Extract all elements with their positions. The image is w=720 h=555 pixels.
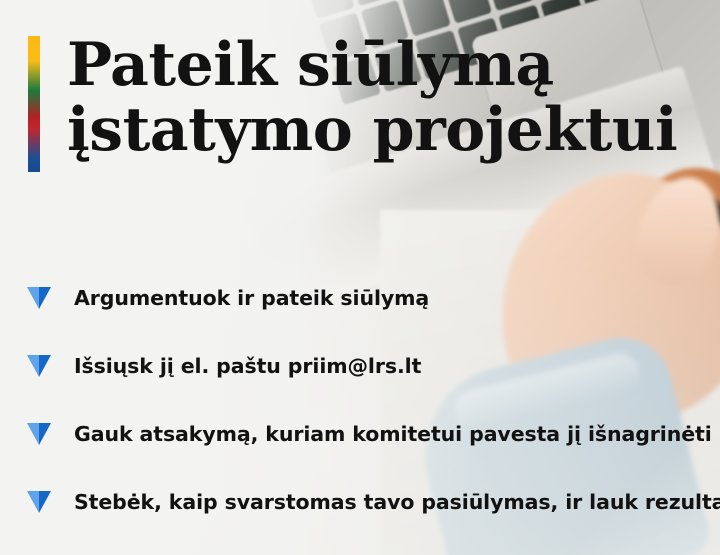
triangle-down-icon [26, 287, 52, 309]
list-item: Išsiųsk jį el. paštu priim@lrs.lt [26, 332, 698, 400]
list-item-label: Išsiųsk jį el. paštu priim@lrs.lt [74, 354, 421, 378]
poster-content: Pateik siūlymą įstatymo projektui Argume… [0, 0, 720, 555]
poster: Pateik siūlymą įstatymo projektui Argume… [0, 0, 720, 555]
triangle-down-icon [26, 423, 52, 445]
lithuania-flag-gradient-bar [28, 36, 40, 172]
list-item-label: Argumentuok ir pateik siūlymą [74, 286, 429, 310]
triangle-down-icon [26, 355, 52, 377]
page-title: Pateik siūlymą įstatymo projektui [67, 33, 677, 172]
list-item-label: Gauk atsakymą, kuriam komitetui pavesta … [74, 422, 712, 446]
list-item: Argumentuok ir pateik siūlymą [26, 264, 698, 332]
list-item-label: Stebėk, kaip svarstomas tavo pasiūlymas,… [74, 490, 720, 514]
list-item: Stebėk, kaip svarstomas tavo pasiūlymas,… [26, 468, 698, 536]
title-block: Pateik siūlymą įstatymo projektui [28, 33, 677, 172]
list-item: Gauk atsakymą, kuriam komitetui pavesta … [26, 400, 698, 468]
steps-list: Argumentuok ir pateik siūlymą Išsiųsk jį… [26, 264, 698, 536]
triangle-down-icon [26, 491, 52, 513]
